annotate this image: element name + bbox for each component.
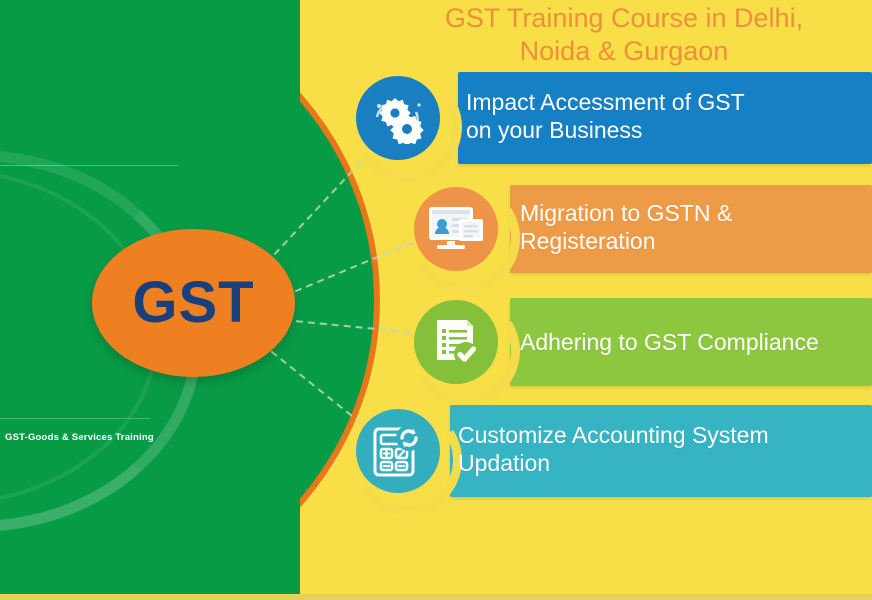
- feature-text-impact-assessment: Impact Accessment of GST on your Busines…: [466, 88, 745, 144]
- feature-text-accounting-system: Customize Accounting System Updation: [458, 421, 769, 477]
- feature-icon-wrap-impact-assessment: [352, 72, 444, 164]
- calculator-sync-icon: [371, 424, 425, 478]
- feature-row-gst-compliance[interactable]: Adhering to GST Compliance: [410, 298, 872, 386]
- page-title: GST Training Course in Delhi, Noida & Gu…: [380, 2, 868, 68]
- feature-icon-wrap-accounting-system: [352, 405, 444, 497]
- feature-text-gst-compliance: Adhering to GST Compliance: [520, 328, 819, 356]
- feature-row-accounting-system[interactable]: Customize Accounting System Updation: [352, 405, 872, 497]
- feature-row-impact-assessment[interactable]: Impact Accessment of GST on your Busines…: [352, 72, 872, 164]
- icon-circle-gst-compliance: [414, 300, 498, 384]
- gst-infographic-poster: GST GST-Goods & Services Training GST Tr…: [0, 0, 872, 600]
- feature-text-line-1: Impact Accessment of GST: [466, 88, 745, 116]
- feature-text-line-2: Registeration: [520, 227, 732, 255]
- gst-hub-label: GST: [132, 274, 254, 332]
- checklist-document-icon: [430, 316, 482, 368]
- feature-text-line-2: on your Business: [466, 116, 745, 144]
- gst-hub-bubble: GST: [92, 229, 295, 377]
- panel-caption: GST-Goods & Services Training: [5, 432, 154, 443]
- feature-text-line-2: Updation: [458, 449, 769, 477]
- icon-circle-impact-assessment: [356, 76, 440, 160]
- green-panel-edge-line-bottom: [0, 418, 150, 419]
- feature-text-line-1: Adhering to GST Compliance: [520, 328, 819, 356]
- feature-icon-wrap-migration-gstn: [410, 183, 502, 275]
- feature-text-migration-gstn: Migration to GSTN & Registeration: [520, 199, 732, 255]
- icon-circle-migration-gstn: [414, 187, 498, 271]
- feature-icon-wrap-gst-compliance: [410, 296, 502, 388]
- monitor-user-icon: [427, 204, 485, 254]
- green-panel-edge-line-top: [0, 165, 178, 166]
- feature-text-line-1: Migration to GSTN &: [520, 199, 732, 227]
- icon-circle-accounting-system: [356, 409, 440, 493]
- page-title-line-1: GST Training Course in Delhi,: [380, 2, 868, 35]
- page-title-line-2: Noida & Gurgaon: [380, 35, 868, 68]
- feature-row-migration-gstn[interactable]: Migration to GSTN & Registeration: [410, 185, 872, 273]
- gears-icon: [370, 92, 426, 144]
- feature-text-line-1: Customize Accounting System: [458, 421, 769, 449]
